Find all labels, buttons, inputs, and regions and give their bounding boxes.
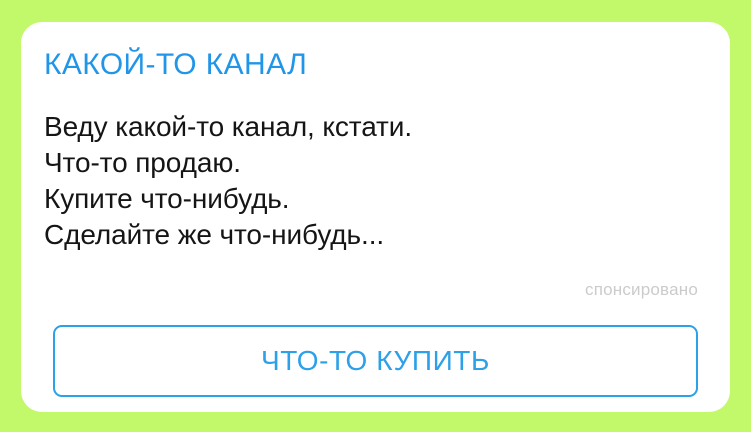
ad-body-line: Купите что-нибудь. [44,181,684,217]
ad-body-line: Сделайте же что-нибудь... [44,217,684,253]
channel-title: КАКОЙ-ТО КАНАЛ [44,48,307,82]
ad-body-line: Веду какой-то канал, кстати. [44,109,684,145]
cta-buy-button[interactable]: ЧТО-ТО КУПИТЬ [53,325,698,397]
sponsored-ad-card[interactable]: КАКОЙ-ТО КАНАЛ Веду какой-то канал, кста… [21,22,730,412]
ad-banner-root: КАКОЙ-ТО КАНАЛ Веду какой-то канал, кста… [0,0,751,432]
ad-body-line: Что-то продаю. [44,145,684,181]
ad-body-text: Веду какой-то канал, кстати. Что-то прод… [44,109,684,253]
sponsored-label: спонсировано [585,280,698,300]
cta-button-label: ЧТО-ТО КУПИТЬ [261,345,490,377]
